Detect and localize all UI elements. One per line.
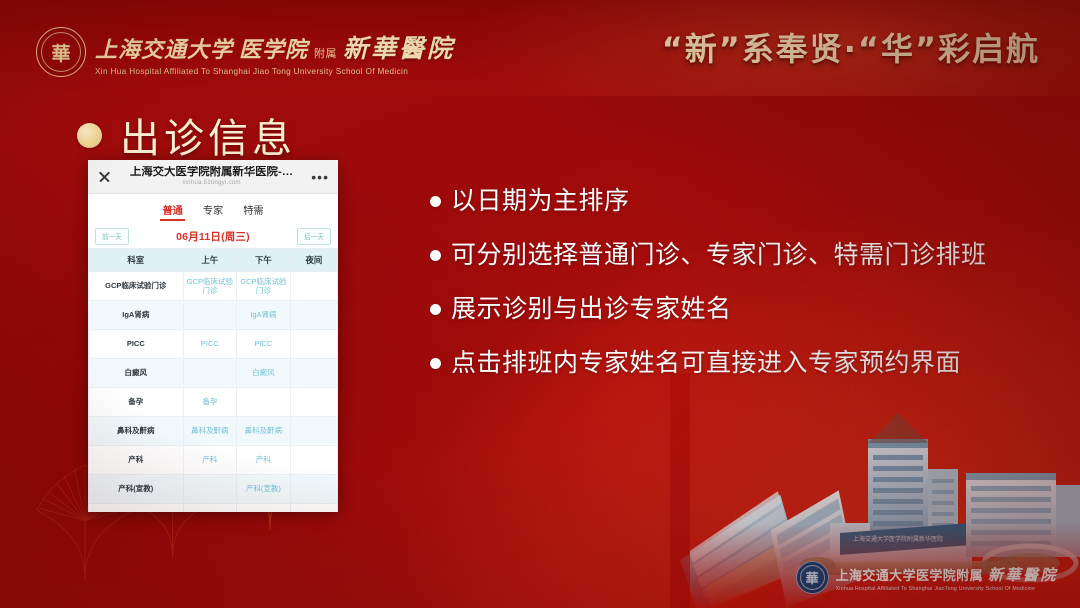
cell-dept: 白癜风 [89,359,184,388]
schedule-table: 科室 上午 下午 夜间 GCP临床试验门诊GCP临床试验门诊GCP临床试验门诊I… [88,248,338,512]
footer-logo-en: Xinhua Hospital Affiliated To Shanghai J… [836,586,1058,592]
bullet-text: 可分别选择普通门诊、专家门诊、特需门诊排班 [451,240,987,270]
bullet-dot-icon [430,304,441,315]
cell-afternoon[interactable]: 鼻科及鼾病 [237,417,291,446]
cell-morning[interactable]: PICC [183,330,237,359]
bullet-list: 以日期为主排序 可分别选择普通门诊、专家门诊、特需门诊排班 展示诊别与出诊专家姓… [430,186,1050,378]
cell-night [290,272,337,301]
more-dots-icon[interactable]: ••• [311,172,329,182]
column-header-night: 夜间 [290,249,337,272]
cell-morning [183,359,237,388]
table-row: 产科建卡产科建卡产科建卡 [89,504,338,513]
cell-night [290,504,337,513]
footer-logo-cn-name: 新華醫院 [988,564,1058,585]
footer-hospital-logo: 華 上海交通大学医学院附属 新華醫院 Xinhua Hospital Affil… [796,561,1058,594]
cell-night [290,359,337,388]
cell-morning [183,301,237,330]
cell-night [290,301,337,330]
cell-night [290,388,337,417]
phone-tab-bar: 普通 专家 特需 [88,194,338,224]
cell-dept: PICC [89,330,184,359]
cell-afternoon[interactable]: GCP临床试验门诊 [237,272,291,301]
bullet-dot-icon [430,196,441,207]
bullet-dot-icon [430,358,441,369]
page-title: 出诊信息 [77,106,296,164]
page-title-text: 出诊信息 [120,106,296,164]
cell-afternoon[interactable]: 白癜风 [237,359,291,388]
table-row: IgA肾病IgA肾病 [89,301,338,330]
table-row: 产科产科产科 [89,446,338,475]
table-row: 产科(宣教)产科(宣教) [89,475,338,504]
header-hospital-logo: 華 上海交通大学 医学院 附属 新華醫院 Xin Hua Hospital Af… [36,27,455,77]
logo-cn-university: 上海交通大学 [95,32,233,64]
cell-dept: IgA肾病 [89,301,184,330]
cell-night [290,330,337,359]
schedule-table-body: GCP临床试验门诊GCP临床试验门诊GCP临床试验门诊IgA肾病IgA肾病PIC… [89,272,338,513]
cell-night [290,446,337,475]
logo-cn-affiliated: 附属 [314,45,337,61]
current-date-label: 06月11日(周三) [176,229,250,244]
list-item: 可分别选择普通门诊、专家门诊、特需门诊排班 [430,240,1050,270]
list-item: 展示诊别与出诊专家姓名 [430,294,1050,324]
cell-night [290,475,337,504]
hospital-seal-icon: 華 [36,27,86,77]
logo-cn-school: 医学院 [239,32,308,64]
hospital-seal-icon: 華 [796,561,829,594]
cell-night [290,417,337,446]
close-icon[interactable] [97,169,112,184]
logo-cn-hospital-name: 新華醫院 [343,29,455,65]
table-row: 白癜风白癜风 [89,359,338,388]
cell-dept: 鼻科及鼾病 [89,417,184,446]
cell-afternoon[interactable]: IgA肾病 [237,301,291,330]
phone-page-title: 上海交大医学院附属新华医院-… [130,166,293,179]
table-header-row: 科室 上午 下午 夜间 [89,249,338,272]
seal-glyph: 華 [797,562,828,593]
cell-afternoon[interactable]: 产科建卡 [237,504,291,513]
table-row: GCP临床试验门诊GCP临床试验门诊GCP临床试验门诊 [89,272,338,301]
cell-dept: GCP临床试验门诊 [89,272,184,301]
logo-en-subtitle: Xin Hua Hospital Affiliated To Shanghai … [95,67,455,76]
footer-logo-cn-main: 上海交通大学医学院附属 [836,565,983,584]
cell-morning [183,475,237,504]
table-row: PICCPICCPICC [89,330,338,359]
cell-dept: 产科建卡 [89,504,184,513]
cell-dept: 产科(宣教) [89,475,184,504]
prev-day-button[interactable]: 前一天 [95,228,129,245]
phone-date-navigation: 前一天 06月11日(周三) 后一天 [88,224,338,248]
cell-afternoon[interactable]: 产科(宣教) [237,475,291,504]
cell-dept: 备孕 [89,388,184,417]
cell-morning[interactable]: GCP临床试验门诊 [183,272,237,301]
next-day-button[interactable]: 后一天 [297,228,331,245]
cell-afternoon [237,388,291,417]
cell-morning[interactable]: 产科 [183,446,237,475]
cell-morning[interactable]: 鼻科及鼾病 [183,417,237,446]
list-item: 以日期为主排序 [430,186,1050,216]
cell-dept: 产科 [89,446,184,475]
phone-title-bar: 上海交大医学院附属新华医院-… xinhua.51tingyi.com ••• [88,160,338,194]
bird-icon: ❯❮ [942,421,955,432]
bird-icon: ❯❮ [881,404,897,416]
cell-morning[interactable]: 备孕 [183,388,237,417]
phone-screenshot-card: 上海交大医学院附属新华医院-… xinhua.51tingyi.com ••• … [88,160,338,512]
column-header-dept: 科室 [89,249,184,272]
phone-page-url: xinhua.51tingyi.com [182,179,241,187]
table-row: 备孕备孕 [89,388,338,417]
tab-putong[interactable]: 普通 [160,198,184,221]
cell-afternoon[interactable]: 产科 [237,446,291,475]
bullet-dot-icon [430,250,441,261]
bullet-dot-icon [77,123,102,148]
column-header-morning: 上午 [183,249,237,272]
header-slogan: “新”系奉贤·“华”彩启航 [662,24,1040,70]
tab-texu[interactable]: 特需 [241,198,265,221]
seal-glyph: 華 [37,28,85,76]
column-header-afternoon: 下午 [237,249,291,272]
bullet-text: 以日期为主排序 [451,186,630,216]
table-row: 鼻科及鼾病鼻科及鼾病鼻科及鼾病 [89,417,338,446]
bullet-text: 展示诊别与出诊专家姓名 [451,294,732,324]
cell-morning[interactable]: 产科建卡 [183,504,237,513]
cell-afternoon[interactable]: PICC [237,330,291,359]
tab-zhuanjia[interactable]: 专家 [201,198,225,221]
